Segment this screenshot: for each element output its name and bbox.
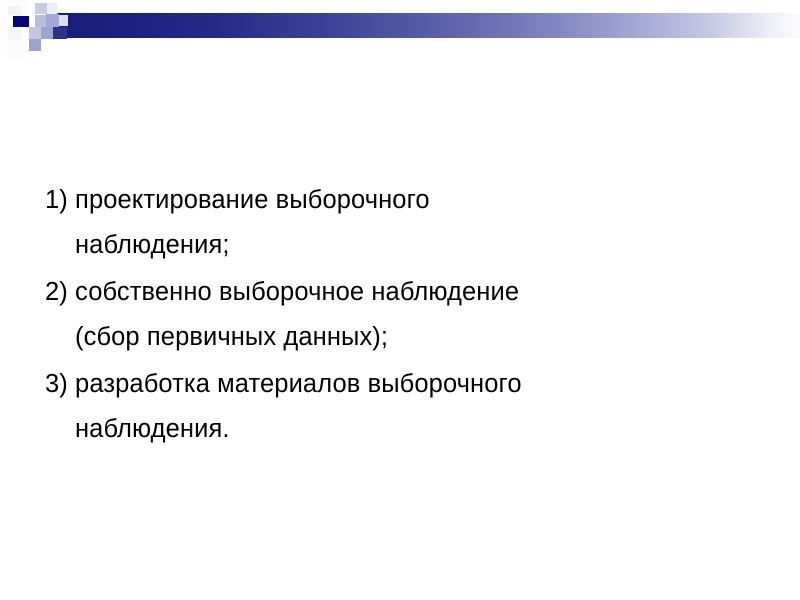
square-pale-barright: [59, 15, 68, 26]
square-navy-barleft: [53, 27, 67, 39]
square-navy-small: [13, 16, 29, 27]
list-item: 3) разработка материалов выборочного наб…: [45, 362, 745, 452]
square-faint-upper2: [47, 3, 57, 14]
square-pale-left: [8, 28, 21, 40]
slide-body-text: 1) проектирование выборочного наблюдения…: [45, 178, 745, 454]
decorative-header-banner: [0, 0, 800, 60]
square-lightblue-bar1: [35, 15, 46, 27]
square-midblue-lower: [29, 39, 41, 51]
square-faint-topleft: [8, 6, 21, 15]
header-gradient-bar: [46, 13, 800, 38]
square-midblue-bar2: [46, 14, 59, 27]
square-pale-upper: [35, 3, 47, 14]
square-midblue-lowbar: [41, 27, 53, 39]
list-item: 2) собственно выборочное наблюдение (сбо…: [45, 270, 745, 360]
list-item: 1) проектирование выборочного наблюдения…: [45, 178, 745, 268]
slide-canvas: 1) проектирование выборочного наблюдения…: [0, 0, 800, 600]
